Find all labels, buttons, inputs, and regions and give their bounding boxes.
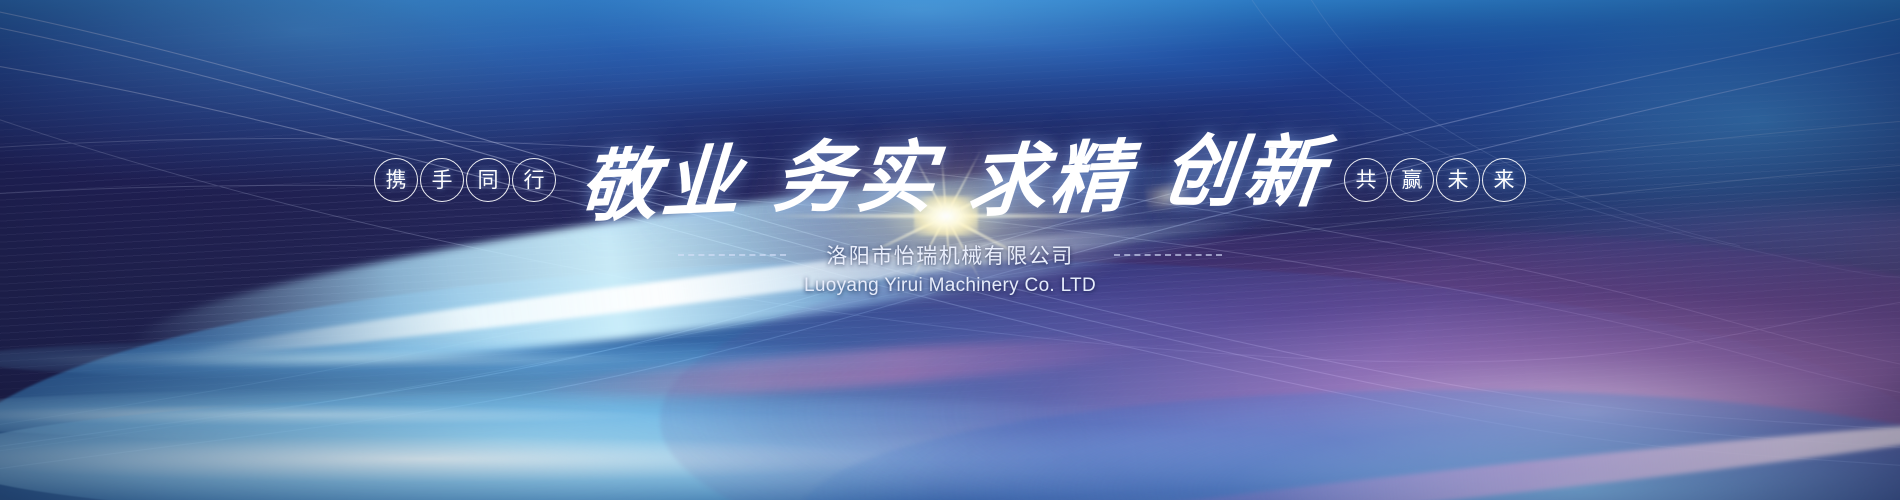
banner-content: 携 手 同 行 敬业 务实 求精 创新 共 赢 未 来 洛阳市怡瑞机械有限公司 (0, 0, 1900, 500)
company-name-cn: 洛阳市怡瑞机械有限公司 (826, 240, 1074, 270)
circled-slogan-right: 共 赢 未 来 (1344, 158, 1526, 202)
brush-word-qiujing: 求精 (965, 138, 1135, 222)
circled-slogan-left: 携 手 同 行 (374, 158, 556, 202)
circled-char-lai: 来 (1482, 158, 1526, 202)
circled-char-gong: 共 (1344, 158, 1388, 202)
brush-word-wushi: 务实 (770, 140, 942, 218)
hero-banner: 携 手 同 行 敬业 务实 求精 创新 共 赢 未 来 洛阳市怡瑞机械有限公司 (0, 0, 1900, 500)
dashed-rule-right (1114, 254, 1222, 256)
brush-word-jingye: 敬业 (577, 143, 746, 228)
circled-char-xie: 携 (374, 158, 418, 202)
circled-char-xing: 行 (512, 158, 556, 202)
circled-char-ying: 赢 (1390, 158, 1434, 202)
circled-char-shou: 手 (420, 158, 464, 202)
company-name-row: 洛阳市怡瑞机械有限公司 (0, 240, 1900, 270)
slogan-row: 携 手 同 行 敬业 务实 求精 创新 共 赢 未 来 (0, 132, 1900, 228)
circled-char-tong: 同 (466, 158, 510, 202)
company-name-en: Luoyang Yirui Machinery Co. LTD (804, 275, 1096, 297)
circled-char-wei: 未 (1436, 158, 1480, 202)
dashed-rule-left (678, 254, 786, 256)
brush-calligraphy-slogan: 敬业 务实 求精 创新 (568, 134, 1338, 225)
company-name-block: 洛阳市怡瑞机械有限公司 Luoyang Yirui Machinery Co. … (0, 240, 1900, 297)
brush-word-chuangxin: 创新 (1158, 133, 1331, 212)
